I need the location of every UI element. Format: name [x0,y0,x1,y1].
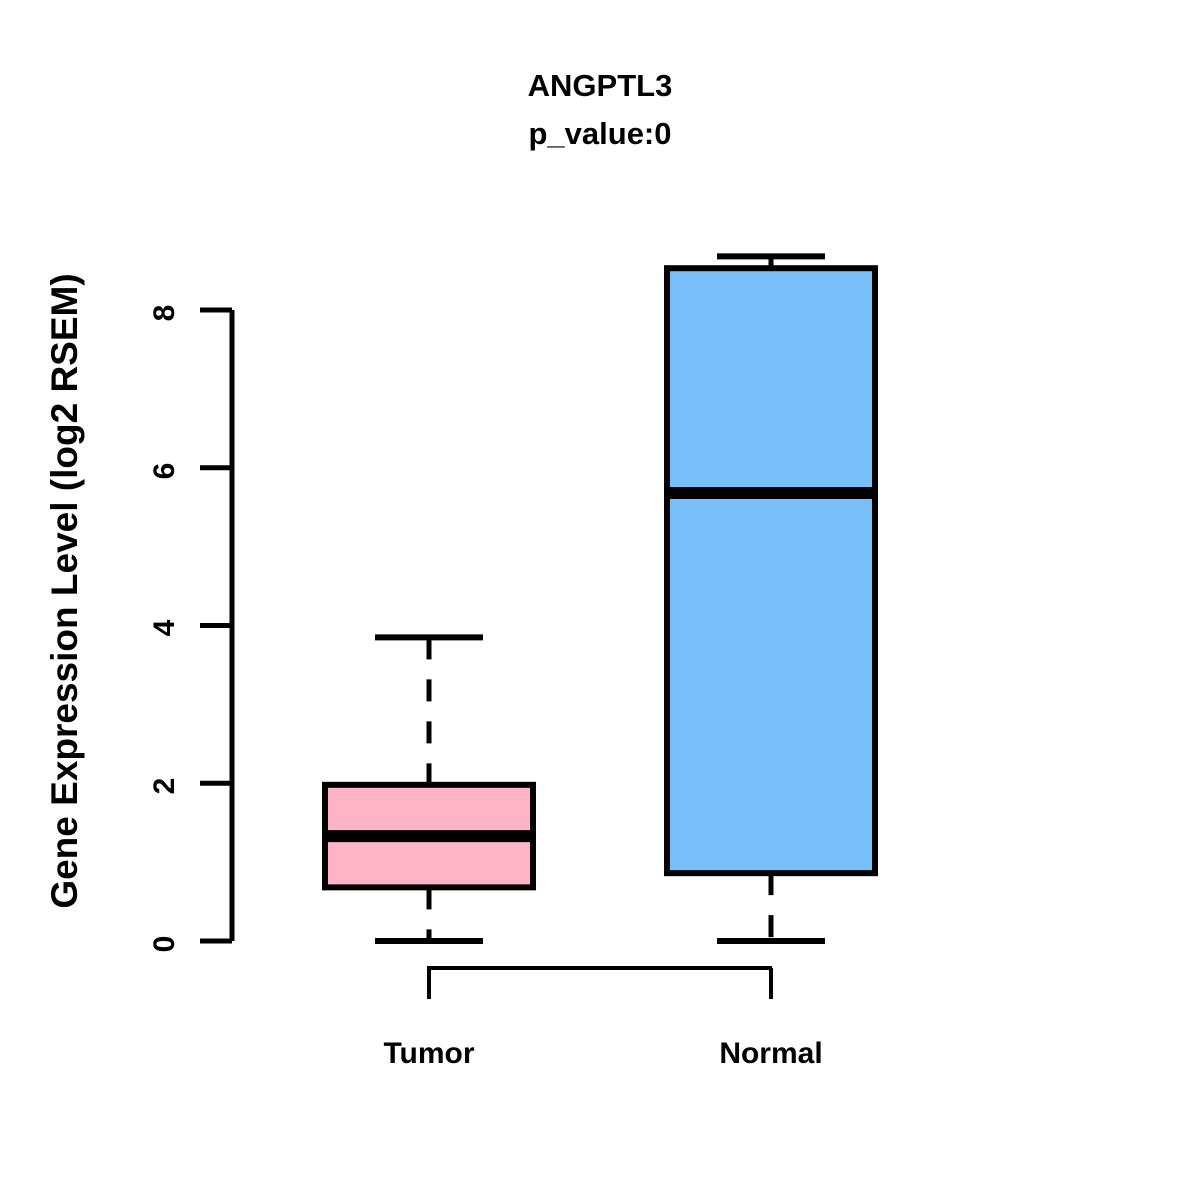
normal-box-rect [667,268,875,873]
boxplot-figure: ANGPTL3 p_value:0 Gene Expression Level … [0,0,1200,1200]
box-tumor [322,637,536,941]
plot-canvas [0,0,1200,1200]
x-axis [427,968,772,999]
y-axis [200,310,232,941]
box-normal [664,256,878,941]
